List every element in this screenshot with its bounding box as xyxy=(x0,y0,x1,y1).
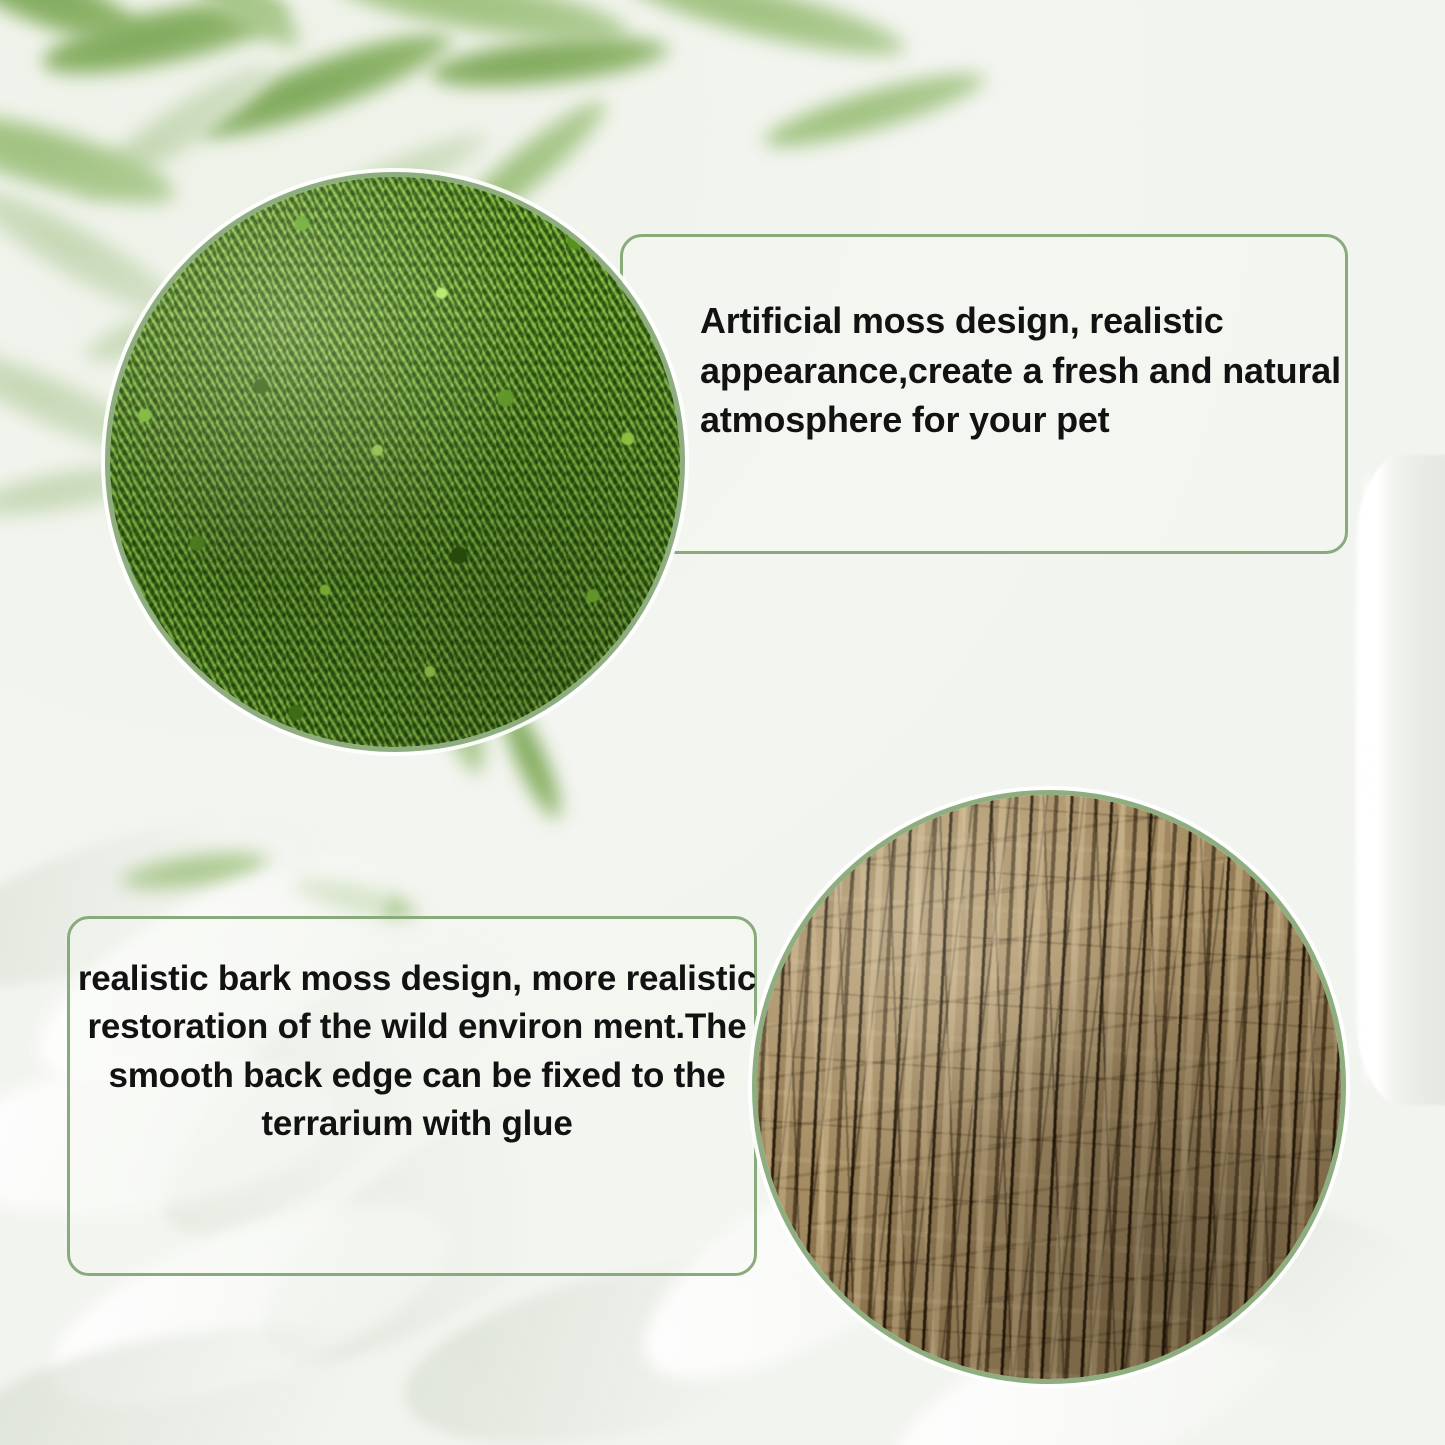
infographic-canvas: Artificial moss design, realistic appear… xyxy=(0,0,1445,1445)
bamboo-leaf-icon xyxy=(0,0,153,63)
moss-texture-shading xyxy=(110,177,680,747)
bamboo-leaf-icon xyxy=(190,15,461,154)
bamboo-leaf-icon xyxy=(119,845,272,898)
leaf-shadow-icon xyxy=(0,1303,487,1445)
product-cylinder-highlight xyxy=(1356,470,1378,1090)
bamboo-leaf-icon xyxy=(37,0,293,89)
bark-texture-shading xyxy=(757,795,1341,1379)
bamboo-leaf-icon xyxy=(759,59,991,161)
bamboo-leaf-icon xyxy=(328,0,632,58)
bamboo-leaf-icon xyxy=(127,0,313,63)
bamboo-leaf-icon xyxy=(428,28,671,97)
moss-texture-photo xyxy=(105,172,685,752)
feature-text-moss: Artificial moss design, realistic appear… xyxy=(700,296,1348,445)
feature-text-bark: realistic bark moss design, more realist… xyxy=(72,955,762,1148)
bamboo-leaf-icon xyxy=(619,0,912,72)
bark-texture-photo xyxy=(752,790,1346,1384)
